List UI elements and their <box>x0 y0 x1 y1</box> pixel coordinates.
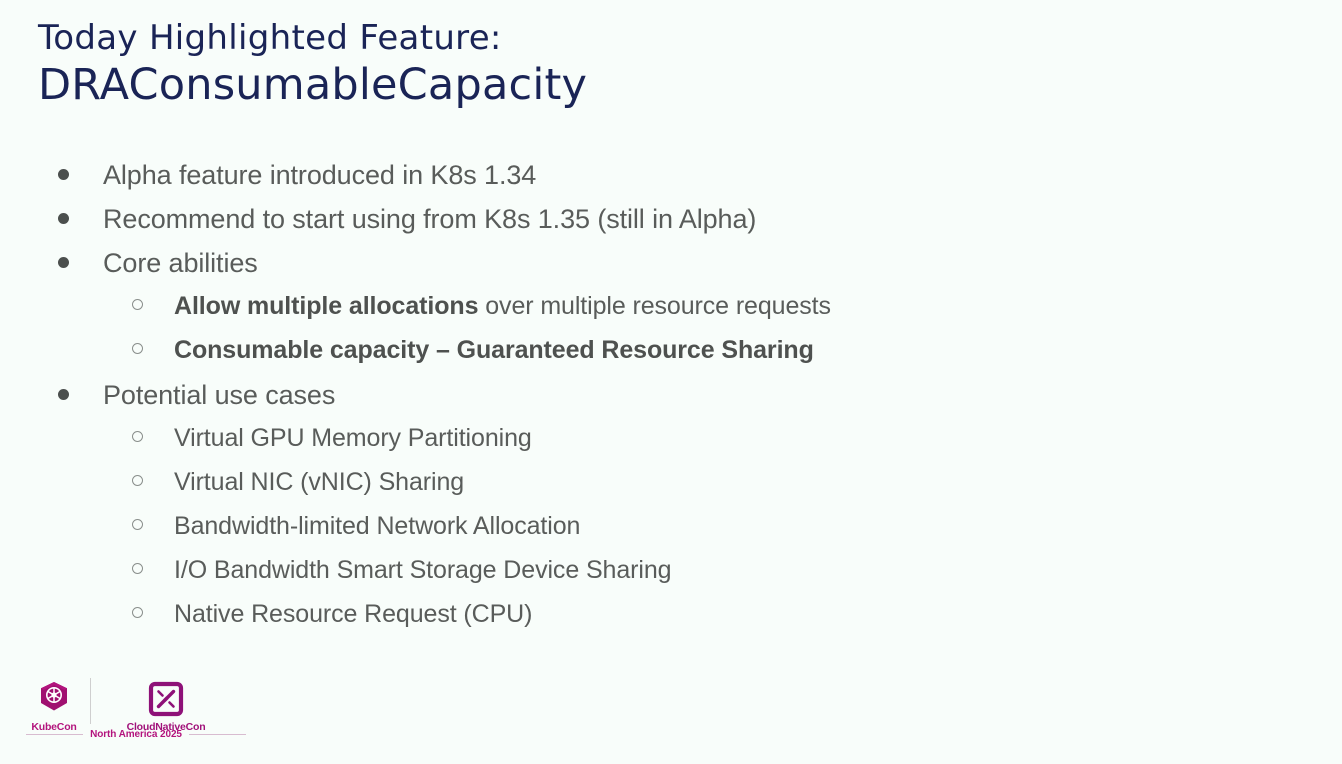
list-item: Alpha feature introduced in K8s 1.34 <box>0 160 1280 204</box>
list-item: Virtual GPU Memory Partitioning <box>0 424 1280 468</box>
list-item-label: Virtual NIC (vNIC) Sharing <box>174 468 464 497</box>
hollow-circle-bullet-icon <box>132 299 143 310</box>
filled-circle-bullet-icon <box>58 257 69 268</box>
list-item-label: Virtual GPU Memory Partitioning <box>174 424 532 453</box>
list-item-emphasis: Allow multiple allocations <box>174 292 478 320</box>
footer-logo-row: KubeCon <box>26 678 246 726</box>
region-label: North America 2025 <box>83 729 189 740</box>
footer-vertical-divider <box>90 678 91 724</box>
cloudnativecon-logo: CloudNativeCon <box>115 678 217 733</box>
hollow-circle-bullet-icon <box>132 343 143 354</box>
hollow-circle-bullet-icon <box>132 431 143 442</box>
hollow-circle-bullet-icon <box>132 475 143 486</box>
title-line-eyebrow: Today Highlighted Feature: <box>38 18 1138 58</box>
list-item: Recommend to start using from K8s 1.35 (… <box>0 204 1280 248</box>
list-item-label: Bandwidth-limited Network Allocation <box>174 512 580 541</box>
list-item: Virtual NIC (vNIC) Sharing <box>0 468 1280 512</box>
kubecon-label: KubeCon <box>31 721 76 733</box>
title-line-feature-name: DRAConsumableCapacity <box>38 60 1138 111</box>
footer-branding: KubeCon <box>26 678 246 758</box>
page-title: Today Highlighted Feature: DRAConsumable… <box>38 18 1138 111</box>
filled-circle-bullet-icon <box>58 169 69 180</box>
list-item-rest: over multiple resource requests <box>478 292 831 320</box>
list-item-label: Alpha feature introduced in K8s 1.34 <box>103 160 536 191</box>
list-item: Potential use cases <box>0 380 1280 424</box>
hollow-circle-bullet-icon <box>132 519 143 530</box>
list-item-label: Potential use cases <box>103 380 335 411</box>
hollow-circle-bullet-icon <box>132 607 143 618</box>
list-item-label: Recommend to start using from K8s 1.35 (… <box>103 204 756 235</box>
kubecon-helm-icon <box>34 678 74 720</box>
region-rule-right <box>189 734 246 735</box>
hollow-circle-bullet-icon <box>132 563 143 574</box>
slide-canvas: Today Highlighted Feature: DRAConsumable… <box>0 0 1342 764</box>
list-item-label: Consumable capacity – Guaranteed Resourc… <box>174 336 814 365</box>
list-item-label: I/O Bandwidth Smart Storage Device Shari… <box>174 556 671 585</box>
cloudnativecon-square-icon <box>148 678 184 720</box>
list-item-label: Core abilities <box>103 248 258 279</box>
list-item: I/O Bandwidth Smart Storage Device Shari… <box>0 556 1280 600</box>
region-rule-left <box>26 734 83 735</box>
bullet-list: Alpha feature introduced in K8s 1.34 Rec… <box>0 160 1280 644</box>
list-item: Bandwidth-limited Network Allocation <box>0 512 1280 556</box>
list-item: Consumable capacity – Guaranteed Resourc… <box>0 336 1280 380</box>
list-item: Allow multiple allocations over multiple… <box>0 292 1280 336</box>
list-item: Core abilities <box>0 248 1280 292</box>
filled-circle-bullet-icon <box>58 213 69 224</box>
list-item-label: Allow multiple allocations over multiple… <box>174 292 831 321</box>
filled-circle-bullet-icon <box>58 389 69 400</box>
list-item-emphasis: Consumable capacity – Guaranteed Resourc… <box>174 336 814 364</box>
list-item: Native Resource Request (CPU) <box>0 600 1280 644</box>
list-item-label: Native Resource Request (CPU) <box>174 600 532 629</box>
kubecon-logo: KubeCon <box>26 678 82 733</box>
